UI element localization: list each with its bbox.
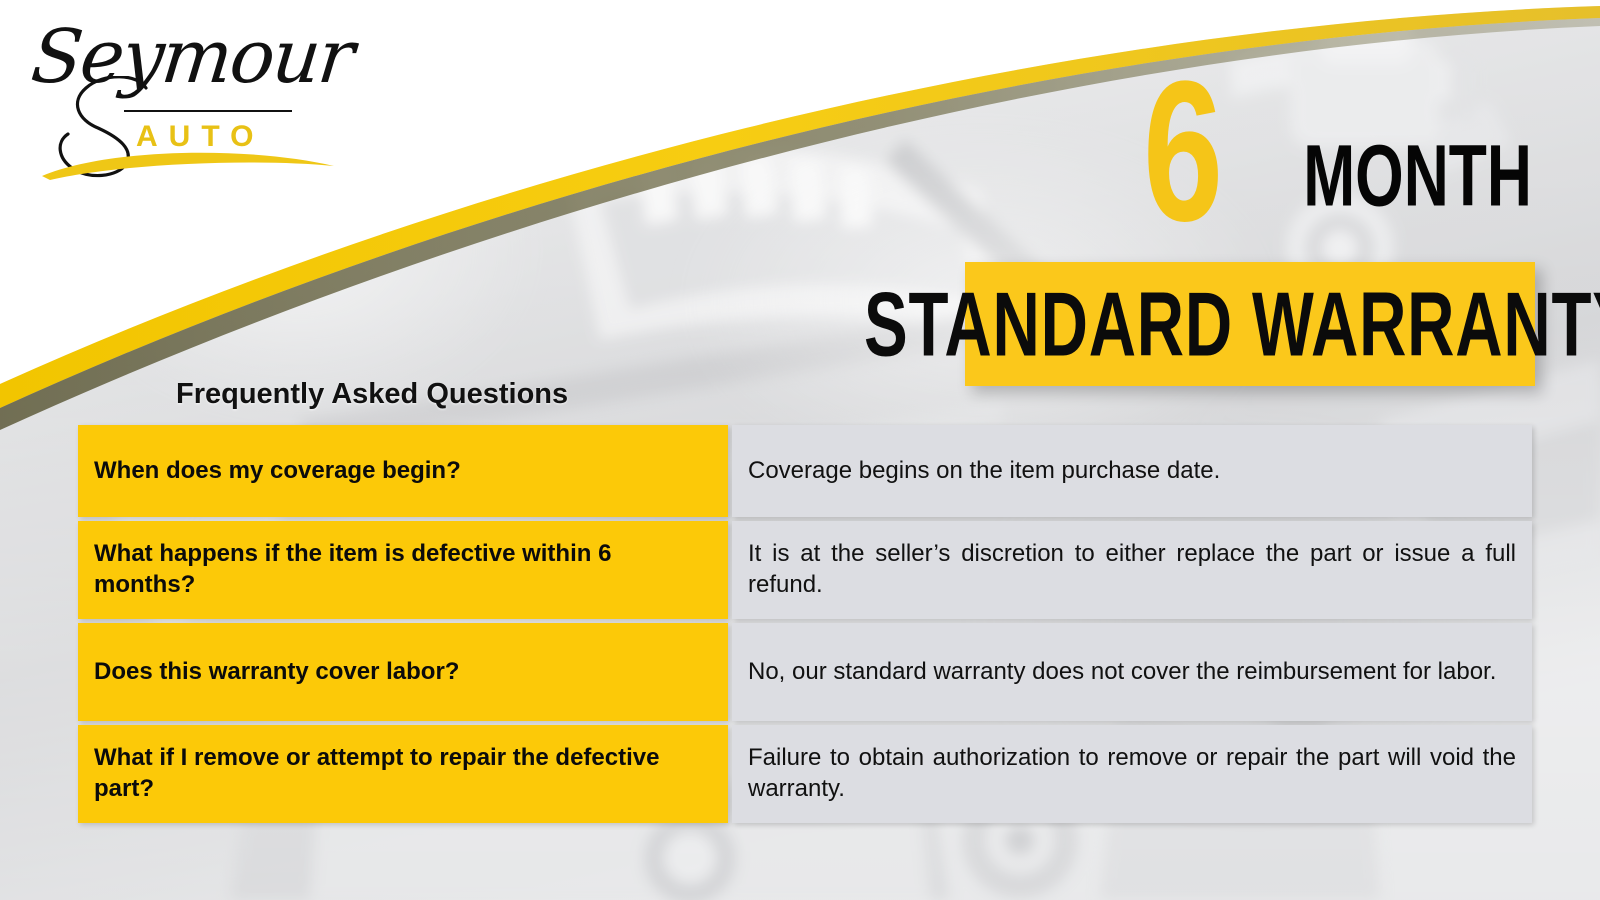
- logo-wordmark: Seymour: [28, 20, 356, 94]
- logo-yellow-swoosh-icon: [38, 146, 338, 182]
- warranty-duration-headline: 6 MONTH: [1113, 74, 1532, 230]
- faq-question: Does this warranty cover labor?: [78, 623, 728, 721]
- faq-answer: It is at the seller’s discretion to eith…: [732, 521, 1532, 619]
- table-row: What if I remove or attempt to repair th…: [78, 725, 1532, 823]
- seymour-auto-logo: Seymour AUTO: [28, 18, 338, 178]
- standard-warranty-banner: STANDARD WARRANTY: [965, 262, 1535, 386]
- table-row: Does this warranty cover labor? No, our …: [78, 623, 1532, 721]
- faq-answer: No, our standard warranty does not cover…: [732, 623, 1532, 721]
- faq-question: When does my coverage begin?: [78, 425, 728, 517]
- faq-heading: Frequently Asked Questions: [176, 378, 568, 411]
- faq-answer: Coverage begins on the item purchase dat…: [732, 425, 1532, 517]
- warranty-slide: Seymour AUTO 6 MONTH STANDARD WARRANTY F…: [0, 0, 1600, 900]
- table-row: When does my coverage begin? Coverage be…: [78, 425, 1532, 517]
- duration-unit: MONTH: [1303, 131, 1532, 230]
- standard-warranty-banner-text: STANDARD WARRANTY: [864, 279, 1600, 370]
- logo-underline: [124, 110, 292, 112]
- faq-answer: Failure to obtain authorization to remov…: [732, 725, 1532, 823]
- faq-table: When does my coverage begin? Coverage be…: [74, 421, 1536, 827]
- duration-number: 6: [1143, 74, 1220, 230]
- faq-question: What happens if the item is defective wi…: [78, 521, 728, 619]
- table-row: What happens if the item is defective wi…: [78, 521, 1532, 619]
- faq-question: What if I remove or attempt to repair th…: [78, 725, 728, 823]
